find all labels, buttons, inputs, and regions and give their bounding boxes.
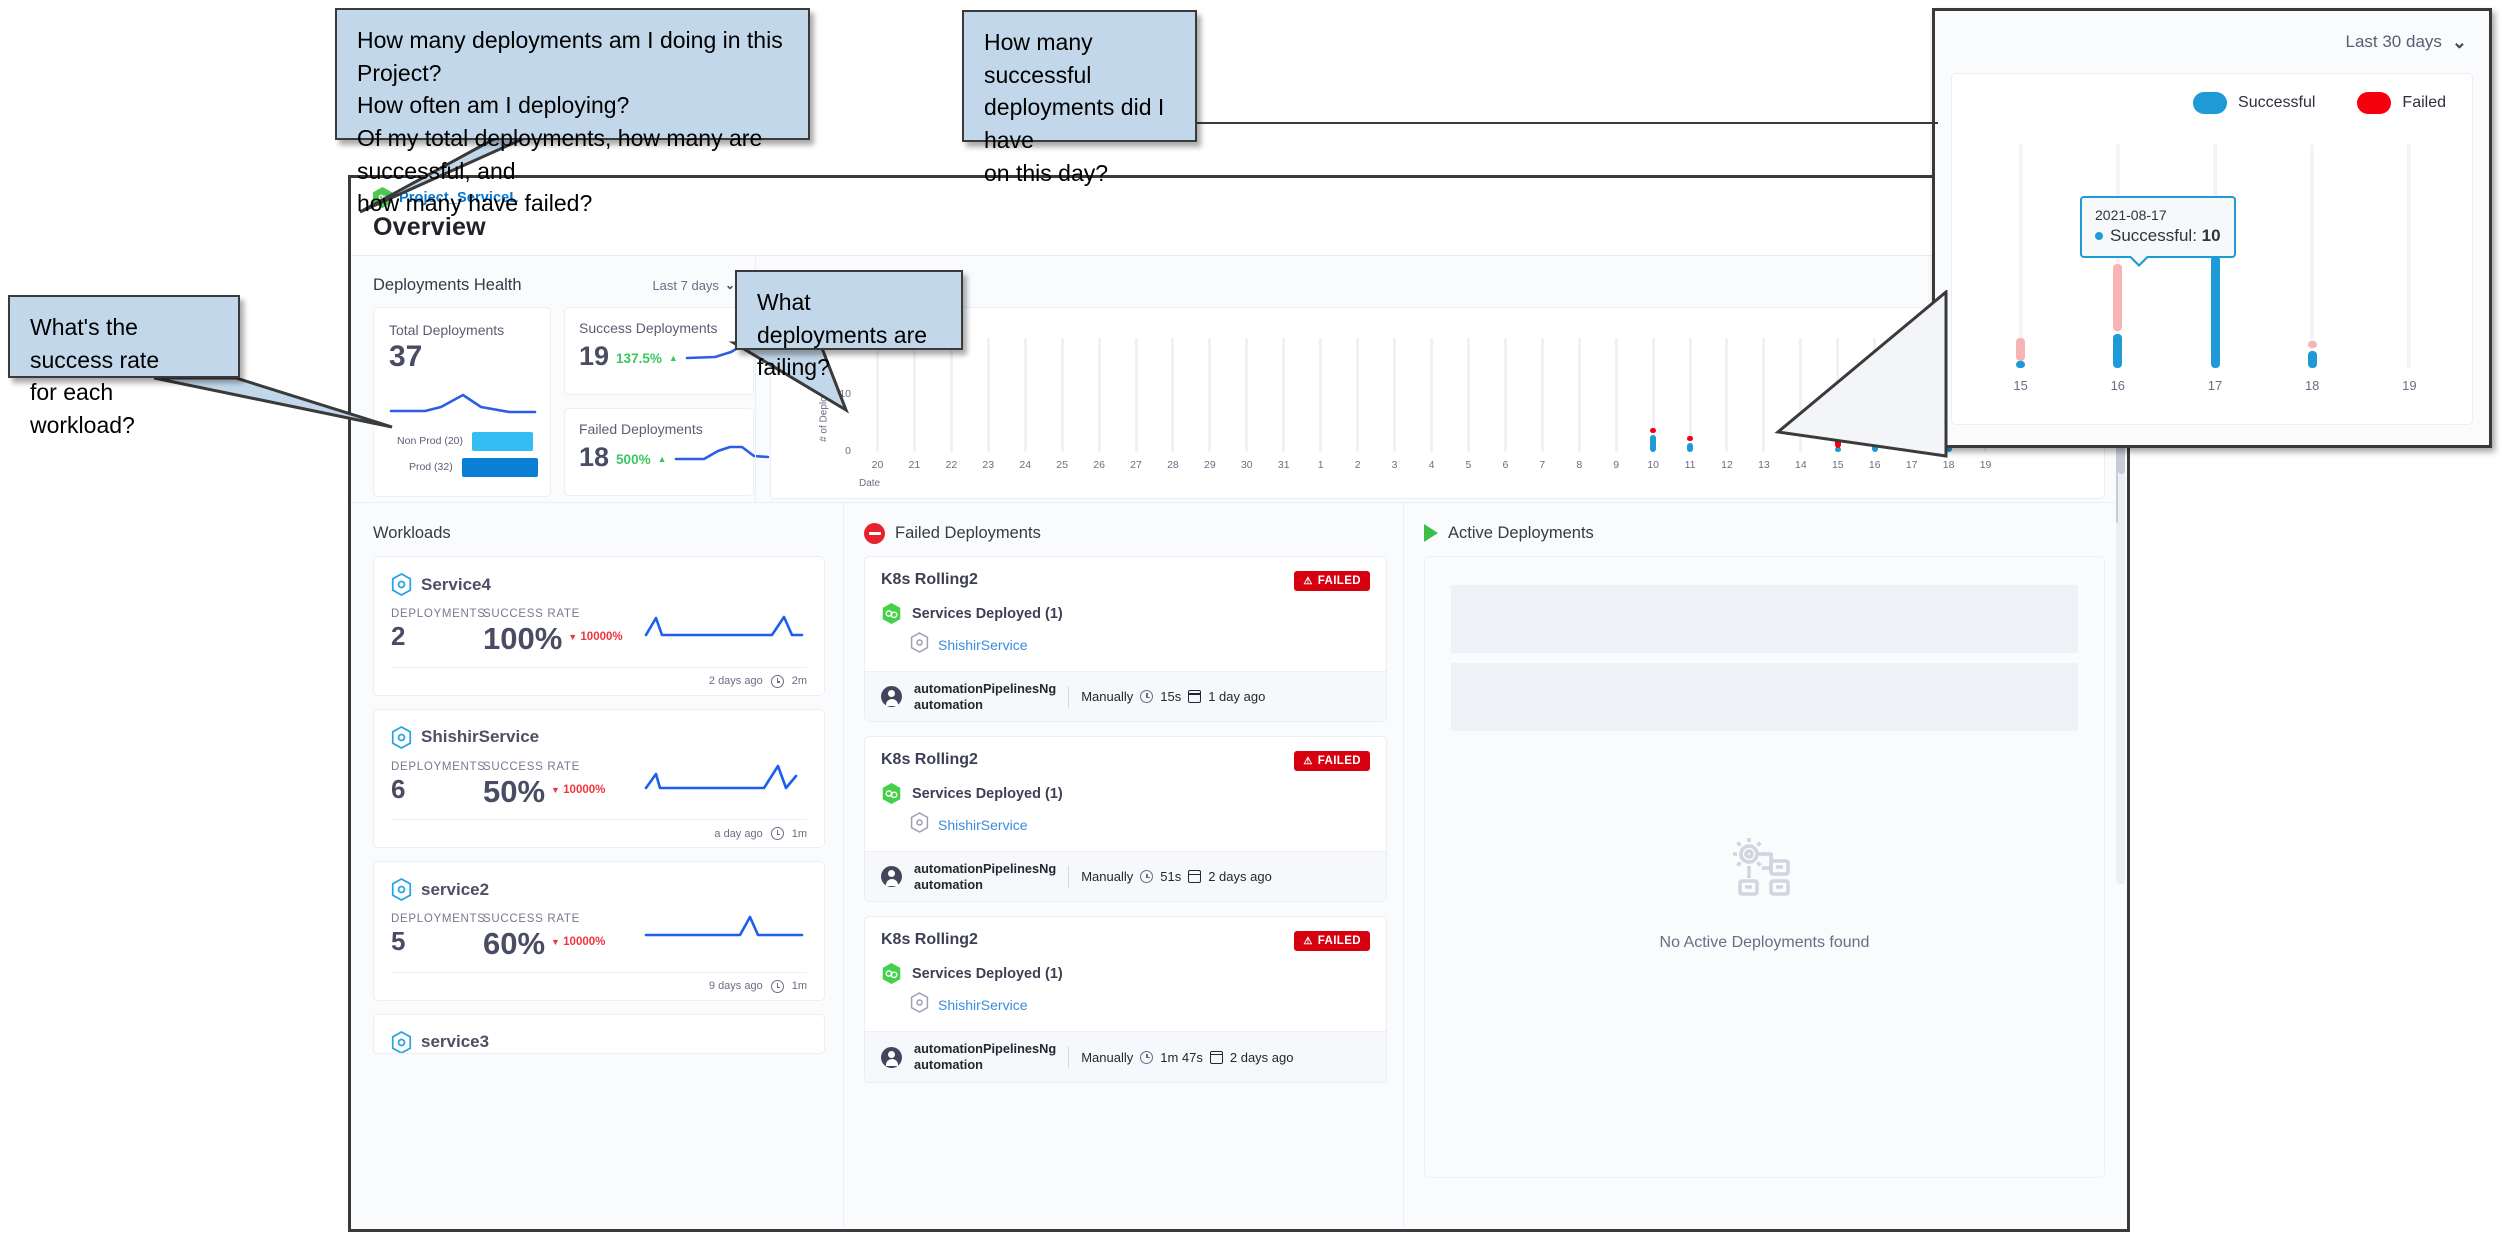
env-breakdown-bars: Non Prod (20) Prod (32) bbox=[386, 428, 538, 480]
chart-gridline bbox=[1393, 338, 1396, 452]
service-hex-icon bbox=[391, 726, 412, 749]
chart-bar-successful bbox=[1650, 435, 1656, 452]
callout-successful-question: How many successfuldeployments did I hav… bbox=[962, 10, 1197, 142]
inset-bar-failed bbox=[2113, 264, 2122, 331]
services-deployed-icon bbox=[881, 602, 902, 625]
bar-label: Non Prod (20) bbox=[386, 435, 463, 447]
workload-delta: ▼ 10000% bbox=[568, 620, 622, 656]
callout-success-rate-question: What's the success ratefor each workload… bbox=[8, 295, 240, 378]
pipeline-name: K8s Rolling2 bbox=[881, 931, 978, 949]
x-axis-tick: 6 bbox=[1502, 459, 1508, 471]
trigger-type: Manually bbox=[1081, 689, 1133, 704]
service-hex-icon bbox=[391, 1031, 412, 1054]
success-deployments-label: Success Deployments bbox=[579, 320, 739, 336]
clock-icon bbox=[1140, 690, 1153, 703]
non-prod-bar bbox=[472, 432, 533, 451]
service-hex-icon bbox=[910, 992, 929, 1018]
trend-up-icon: ▲ bbox=[658, 449, 667, 471]
callout-line: How many successful bbox=[984, 26, 1175, 91]
trend-down-icon: ▼ bbox=[551, 937, 560, 947]
workloads-header: Workloads bbox=[373, 519, 825, 547]
clock-icon bbox=[1140, 870, 1153, 883]
chart-gridline bbox=[950, 338, 953, 452]
chart-bar-failed bbox=[1650, 428, 1656, 433]
workload-last-run: a day ago bbox=[714, 828, 762, 840]
x-axis-tick: 3 bbox=[1392, 459, 1398, 471]
workload-delta: ▼ 10000% bbox=[551, 925, 605, 961]
x-axis-tick: 1 bbox=[1318, 459, 1324, 471]
chart-gridline bbox=[1504, 338, 1507, 452]
active-deployments-header: Active Deployments bbox=[1424, 519, 2105, 547]
workload-deployments-label: DEPLOYMENTS bbox=[391, 913, 483, 925]
failed-deployments-label: Failed Deployments bbox=[579, 421, 739, 437]
prod-bar bbox=[462, 458, 538, 477]
failed-deployments-panel: Failed Deployments K8s Rolling2⚠FAILEDSe… bbox=[843, 503, 1403, 1232]
triggered-by-user: automationPipelinesNgautomation bbox=[914, 861, 1056, 892]
chart-gridline bbox=[1282, 338, 1285, 452]
y-axis-tick: 0 bbox=[825, 445, 851, 457]
inset-header: Last 30 days ⌄ bbox=[1935, 11, 2489, 73]
chart-tooltip: 2021-08-17 Successful: 10 bbox=[2080, 196, 2236, 258]
inset-bar-successful bbox=[2308, 351, 2317, 368]
workload-success-rate-label: SUCCESS RATE bbox=[483, 761, 605, 773]
tooltip-date: 2021-08-17 bbox=[2095, 207, 2221, 223]
chart-gridline bbox=[987, 338, 990, 452]
pipeline-name: K8s Rolling2 bbox=[881, 751, 978, 769]
warning-triangle-icon: ⚠ bbox=[1303, 756, 1312, 767]
workloads-panel: Workloads Service4DEPLOYMENTS2SUCCESS RA… bbox=[351, 503, 843, 1232]
callout-line: for each workload? bbox=[30, 376, 218, 441]
deployment-meta: Manually1m 47s2 days ago bbox=[1081, 1050, 1293, 1065]
workload-deployments-value: 6 bbox=[391, 775, 483, 805]
divider bbox=[1068, 866, 1069, 888]
success-deployments-delta: 137.5% bbox=[616, 348, 662, 370]
workload-card[interactable]: Service4DEPLOYMENTS2SUCCESS RATE100%▼ 10… bbox=[373, 556, 825, 696]
tooltip-tail bbox=[2128, 256, 2150, 267]
deployment-meta: Manually15s1 day ago bbox=[1081, 689, 1265, 704]
inset-x-axis-tick: 15 bbox=[2013, 378, 2027, 393]
status-badge: ⚠FAILED bbox=[1294, 751, 1370, 771]
callout-text: What deployments arefailing? bbox=[757, 286, 941, 384]
chart-gridline bbox=[1541, 338, 1544, 452]
clock-icon bbox=[771, 675, 784, 688]
failed-deployments-header: Failed Deployments bbox=[864, 519, 1387, 547]
calendar-icon bbox=[1188, 690, 1201, 703]
chart-gridline bbox=[1245, 338, 1248, 452]
x-axis-tick: 18 bbox=[1943, 459, 1955, 471]
callout-line: Of my total deployments, how many are su… bbox=[357, 122, 788, 187]
active-deployments-panel: Active Deployments bbox=[1403, 503, 2127, 1232]
play-triangle-icon bbox=[1424, 524, 1438, 542]
total-deployments-value: 37 bbox=[389, 340, 535, 375]
x-axis-tick: 24 bbox=[1019, 459, 1031, 471]
inset-gridline bbox=[2310, 144, 2314, 368]
service-hex-icon bbox=[391, 878, 412, 901]
workload-deployments-label: DEPLOYMENTS bbox=[391, 761, 483, 773]
workload-name: service2 bbox=[421, 880, 489, 900]
x-axis-tick: 7 bbox=[1539, 459, 1545, 471]
workload-name: service3 bbox=[421, 1032, 489, 1052]
services-deployed-label: Services Deployed (1) bbox=[912, 966, 1063, 982]
callout-line: How often am I deploying? bbox=[357, 89, 788, 122]
zoom-inset-panel: Last 30 days ⌄ Successful Failed 1516171… bbox=[1932, 8, 2492, 448]
bar-label: Prod (32) bbox=[386, 461, 453, 473]
workload-delta: ▼ 10000% bbox=[551, 773, 605, 809]
inset-x-axis-tick: 16 bbox=[2111, 378, 2125, 393]
warning-triangle-icon: ⚠ bbox=[1303, 576, 1312, 587]
total-deployments-label: Total Deployments bbox=[389, 322, 535, 338]
inset-bar-failed bbox=[2016, 338, 2025, 360]
trend-down-icon: ▼ bbox=[568, 632, 577, 642]
services-deployed-label: Services Deployed (1) bbox=[912, 606, 1063, 622]
workload-duration: 2m bbox=[792, 675, 807, 687]
mid-row: Workloads Service4DEPLOYMENTS2SUCCESS RA… bbox=[351, 502, 2127, 1232]
callout-line: failing? bbox=[757, 351, 941, 384]
workload-name: ShishirService bbox=[421, 727, 539, 747]
triggered-by-user: automationPipelinesNgautomation bbox=[914, 1041, 1056, 1072]
duration: 15s bbox=[1160, 689, 1181, 704]
workload-success-rate-label: SUCCESS RATE bbox=[483, 913, 605, 925]
workload-last-run: 2 days ago bbox=[709, 675, 763, 687]
service-link[interactable]: ShishirService bbox=[938, 997, 1027, 1013]
divider bbox=[1068, 1046, 1069, 1068]
x-axis-tick: 10 bbox=[1647, 459, 1659, 471]
inset-chart-card[interactable]: Successful Failed 1516171819 2021-08-17 … bbox=[1951, 73, 2473, 425]
service-hex-icon bbox=[391, 573, 412, 596]
callout-deployments-question: How many deployments am I doing in this … bbox=[335, 8, 810, 140]
chart-gridline bbox=[1098, 338, 1101, 452]
workload-success-rate-value: 60% bbox=[483, 928, 545, 961]
range-label: Last 7 days bbox=[652, 278, 719, 293]
x-axis-tick: 23 bbox=[982, 459, 994, 471]
trigger-type: Manually bbox=[1081, 869, 1133, 884]
failed-deployment-card[interactable]: K8s Rolling2⚠FAILEDServices Deployed (1)… bbox=[864, 556, 1387, 722]
duration: 1m 47s bbox=[1160, 1050, 1203, 1065]
inset-range-picker[interactable]: Last 30 days ⌄ bbox=[2346, 32, 2468, 53]
chart-gridline bbox=[1135, 338, 1138, 452]
workload-name: Service4 bbox=[421, 575, 491, 595]
failed-deployments-card: Failed Deployments 18 500% ▲ bbox=[564, 408, 754, 496]
x-axis-tick: 26 bbox=[1093, 459, 1105, 471]
workload-last-run: 9 days ago bbox=[709, 980, 763, 992]
status-badge: ⚠FAILED bbox=[1294, 931, 1370, 951]
active-deployments-title: Active Deployments bbox=[1448, 524, 1594, 543]
inset-magnifier-connector bbox=[1660, 290, 1950, 460]
inset-bar-successful bbox=[2211, 256, 2220, 368]
user-avatar-icon bbox=[881, 686, 902, 707]
clock-icon bbox=[1140, 1051, 1153, 1064]
chevron-down-icon: ⌄ bbox=[2452, 32, 2467, 53]
services-deployed-icon bbox=[881, 782, 902, 805]
workload-duration: 1m bbox=[792, 980, 807, 992]
triggered-by-user: automationPipelinesNgautomation bbox=[914, 681, 1056, 712]
workload-success-rate-value: 100% bbox=[483, 623, 562, 656]
callout-line: How many deployments am I doing in this … bbox=[357, 24, 788, 89]
workload-sparkline bbox=[644, 609, 806, 644]
pipeline-name: K8s Rolling2 bbox=[881, 571, 978, 589]
callout-line: deployments did I have bbox=[984, 91, 1175, 156]
x-axis-tick: 28 bbox=[1167, 459, 1179, 471]
user-avatar-icon bbox=[881, 1047, 902, 1068]
warning-triangle-icon: ⚠ bbox=[1303, 936, 1312, 947]
calendar-icon bbox=[1188, 870, 1201, 883]
x-axis-tick: 5 bbox=[1466, 459, 1472, 471]
workload-deployments-value: 5 bbox=[391, 927, 483, 957]
skeleton-row bbox=[1451, 663, 2078, 731]
skeleton-row bbox=[1451, 585, 2078, 653]
failed-deployments-list: K8s Rolling2⚠FAILEDServices Deployed (1)… bbox=[864, 556, 1387, 1083]
inset-gridline bbox=[2407, 144, 2411, 368]
x-axis-tick: 17 bbox=[1906, 459, 1918, 471]
trigger-type: Manually bbox=[1081, 1050, 1133, 1065]
x-axis-tick: 2 bbox=[1355, 459, 1361, 471]
service-link[interactable]: ShishirService bbox=[938, 637, 1027, 653]
bar-row: Prod (32) bbox=[386, 454, 538, 480]
when: 2 days ago bbox=[1230, 1050, 1294, 1065]
callout-line: What deployments are bbox=[757, 286, 941, 351]
service-hex-icon bbox=[910, 812, 929, 838]
chart-gridline bbox=[1024, 338, 1027, 452]
chart-x-axis-label: Date bbox=[859, 478, 880, 489]
chart-gridline bbox=[1356, 338, 1359, 452]
x-axis-tick: 21 bbox=[909, 459, 921, 471]
service-link[interactable]: ShishirService bbox=[938, 817, 1027, 833]
callout-connector-line bbox=[1196, 122, 1938, 124]
workload-success-rate-label: SUCCESS RATE bbox=[483, 608, 623, 620]
chart-gridline bbox=[1578, 338, 1581, 452]
failed-deployment-card[interactable]: K8s Rolling2⚠FAILEDServices Deployed (1)… bbox=[864, 736, 1387, 902]
workloads-list: Service4DEPLOYMENTS2SUCCESS RATE100%▼ 10… bbox=[373, 556, 825, 1054]
x-axis-tick: 20 bbox=[872, 459, 884, 471]
x-axis-tick: 27 bbox=[1130, 459, 1142, 471]
workload-success-rate-value: 50% bbox=[483, 776, 545, 809]
workload-duration: 1m bbox=[792, 828, 807, 840]
success-deployments-value: 19 bbox=[579, 343, 609, 370]
inset-bar-successful bbox=[2016, 361, 2025, 368]
workload-sparkline bbox=[644, 914, 806, 949]
callout-failing-question: What deployments arefailing? bbox=[735, 270, 963, 350]
trend-down-icon: ▼ bbox=[551, 785, 560, 795]
workload-deployments-label: DEPLOYMENTS bbox=[391, 608, 483, 620]
clock-icon bbox=[771, 980, 784, 993]
callout-line: how many have failed? bbox=[357, 187, 788, 220]
tooltip-series-dot bbox=[2095, 232, 2103, 240]
workload-sparkline bbox=[644, 762, 806, 797]
service-hex-icon bbox=[910, 632, 929, 658]
workload-card[interactable]: service3 bbox=[373, 1014, 825, 1054]
x-axis-tick: 13 bbox=[1758, 459, 1770, 471]
x-axis-tick: 12 bbox=[1721, 459, 1733, 471]
deployments-health-range-picker[interactable]: Last 7 days ⌄ bbox=[652, 278, 735, 293]
workload-deployments-value: 2 bbox=[391, 622, 483, 652]
trend-up-icon: ▲ bbox=[669, 348, 678, 370]
chart-gridline bbox=[1467, 338, 1470, 452]
x-axis-tick: 4 bbox=[1429, 459, 1435, 471]
services-deployed-label: Services Deployed (1) bbox=[912, 786, 1063, 802]
inset-gridline bbox=[2019, 144, 2023, 368]
x-axis-tick: 15 bbox=[1832, 459, 1844, 471]
x-axis-tick: 11 bbox=[1685, 459, 1696, 471]
pipeline-empty-icon bbox=[1724, 831, 1804, 916]
x-axis-tick: 22 bbox=[945, 459, 957, 471]
divider bbox=[1068, 686, 1069, 708]
callout-text: What's the success ratefor each workload… bbox=[30, 311, 218, 442]
deployments-health-panel: Deployments Health Last 7 days ⌄ Total D… bbox=[351, 256, 755, 502]
failed-deployments-value: 18 bbox=[579, 444, 609, 471]
failed-deployment-card[interactable]: K8s Rolling2⚠FAILEDServices Deployed (1)… bbox=[864, 916, 1387, 1082]
active-deployments-empty-panel: No Active Deployments found bbox=[1424, 556, 2105, 1178]
x-axis-tick: 25 bbox=[1056, 459, 1068, 471]
workload-card[interactable]: ShishirServiceDEPLOYMENTS6SUCCESS RATE50… bbox=[373, 709, 825, 849]
x-axis-tick: 29 bbox=[1204, 459, 1216, 471]
x-axis-tick: 16 bbox=[1869, 459, 1881, 471]
inset-x-axis-tick: 19 bbox=[2402, 378, 2416, 393]
chart-gridline bbox=[1430, 338, 1433, 452]
services-deployed-icon bbox=[881, 962, 902, 985]
deployments-health-title: Deployments Health bbox=[373, 276, 522, 295]
inset-x-axis-tick: 18 bbox=[2305, 378, 2319, 393]
chart-gridline bbox=[1208, 338, 1211, 452]
user-avatar-icon bbox=[881, 866, 902, 887]
callout-text: How many successfuldeployments did I hav… bbox=[984, 26, 1175, 189]
empty-state: No Active Deployments found bbox=[1660, 831, 1870, 952]
chart-gridline bbox=[1615, 338, 1618, 452]
empty-state-text: No Active Deployments found bbox=[1660, 934, 1870, 952]
inset-x-axis-tick: 17 bbox=[2208, 378, 2222, 393]
callout-line: What's the success rate bbox=[30, 311, 218, 376]
duration: 51s bbox=[1160, 869, 1181, 884]
x-axis-tick: 14 bbox=[1795, 459, 1807, 471]
failed-deployments-delta: 500% bbox=[616, 449, 651, 471]
failed-deployments-title: Failed Deployments bbox=[895, 524, 1041, 543]
calendar-icon bbox=[1210, 1051, 1223, 1064]
total-deployments-sparkline bbox=[389, 381, 535, 428]
chart-gridline bbox=[1171, 338, 1174, 452]
inset-bar-successful bbox=[2113, 334, 2122, 368]
callout-text: How many deployments am I doing in this … bbox=[357, 24, 788, 220]
chart-gridline bbox=[1319, 338, 1322, 452]
workloads-title: Workloads bbox=[373, 524, 451, 543]
clock-icon bbox=[771, 827, 784, 840]
chevron-down-icon: ⌄ bbox=[725, 278, 735, 292]
failed-circle-icon bbox=[864, 523, 885, 544]
deployments-health-header: Deployments Health Last 7 days ⌄ bbox=[373, 270, 735, 300]
when: 1 day ago bbox=[1208, 689, 1265, 704]
tooltip-value: Successful: 10 bbox=[2110, 226, 2221, 246]
inset-bar-failed bbox=[2308, 341, 2317, 348]
status-badge: ⚠FAILED bbox=[1294, 571, 1370, 591]
inset-range-label: Last 30 days bbox=[2346, 32, 2442, 52]
x-axis-tick: 19 bbox=[1980, 459, 1992, 471]
chart-gridline bbox=[1061, 338, 1064, 452]
workload-card[interactable]: service2DEPLOYMENTS5SUCCESS RATE60%▼ 100… bbox=[373, 861, 825, 1001]
x-axis-tick: 31 bbox=[1278, 459, 1290, 471]
x-axis-tick: 9 bbox=[1613, 459, 1619, 471]
x-axis-tick: 30 bbox=[1241, 459, 1253, 471]
when: 2 days ago bbox=[1208, 869, 1272, 884]
deployment-meta: Manually51s2 days ago bbox=[1081, 869, 1272, 884]
callout-line: on this day? bbox=[984, 157, 1175, 190]
x-axis-tick: 8 bbox=[1576, 459, 1582, 471]
